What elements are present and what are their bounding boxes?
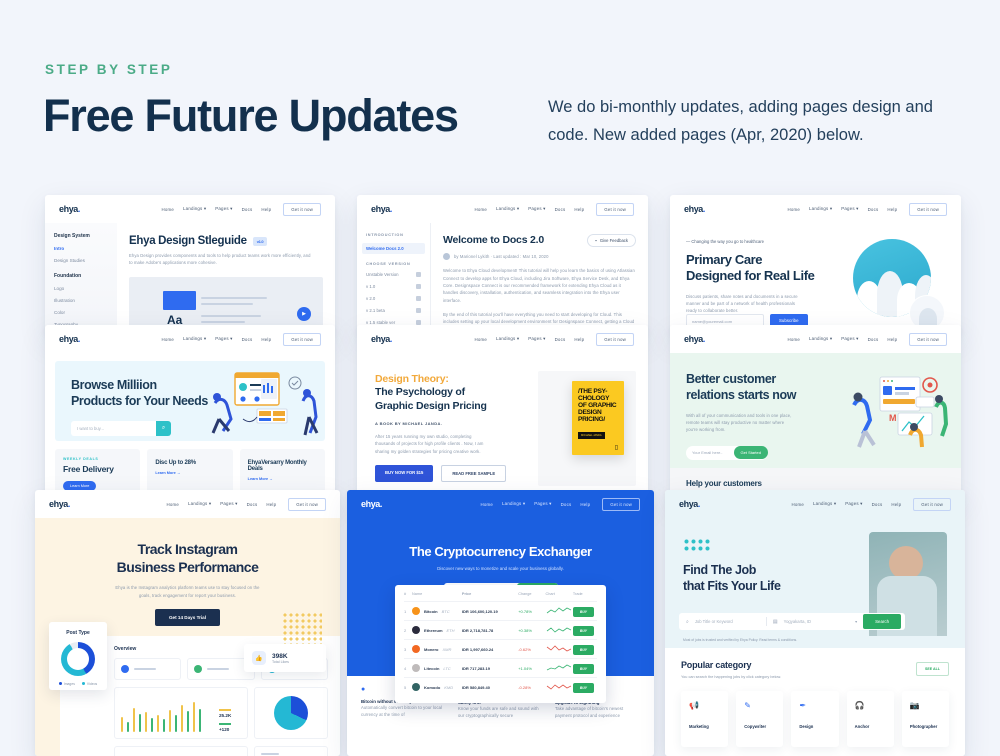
sidebar-item-welcome[interactable]: Welcome Docs 2.0	[362, 243, 425, 254]
site-nav: ehya. Home Landings ▾ Pages ▾ Docs Help …	[45, 325, 335, 353]
book-paragraph: After 15 years running my own studio, co…	[375, 433, 485, 455]
category-card-photographer[interactable]: 📷 Photographer	[902, 691, 949, 747]
styleguide-sidebar: Design System Intro Design Studies Found…	[45, 223, 117, 335]
logo: ehya.	[59, 204, 80, 214]
doc-icon	[416, 284, 421, 289]
nav-links: Home Landings ▾ Pages ▾ Docs Help Get it…	[162, 333, 321, 346]
site-nav: ehya. Home Landings ▾ Pages ▾ Docs Help …	[665, 490, 965, 518]
card-ecommerce[interactable]: ehya. Home Landings ▾ Pages ▾ Docs Help …	[45, 325, 335, 500]
logo: ehya.	[371, 204, 392, 214]
jobs-hero: ehya. Home Landings ▾ Pages ▾ Docs Help …	[665, 490, 965, 728]
nav-item-pages[interactable]: Pages ▾	[528, 206, 545, 212]
nav-item-docs[interactable]: Docs	[247, 502, 258, 507]
row-price: IDR 717,283.19	[462, 666, 518, 671]
logo: ehya.	[684, 204, 705, 214]
likes-value: 398K	[272, 653, 289, 660]
row-name: BitcoinBTC	[412, 607, 462, 615]
color-swatch	[163, 291, 196, 310]
email-field[interactable]: Your Email here..	[692, 450, 723, 455]
play-icon[interactable]: ▶	[297, 307, 311, 321]
version-item[interactable]: Unstable Version	[366, 272, 421, 277]
read-sample-button[interactable]: READ FREE SAMPLE	[441, 465, 506, 482]
logo: ehya.	[59, 334, 80, 344]
row-name: EthereumETH	[412, 626, 462, 634]
nav-item-help[interactable]: Help	[261, 337, 271, 342]
nav-item-docs[interactable]: Docs	[561, 502, 572, 507]
row-price: IDR 106,600,120.19	[462, 609, 518, 614]
doc-icon	[416, 272, 421, 277]
section-title: Popular category	[681, 660, 949, 670]
popular-category-section: Popular category You can search the happ…	[665, 648, 965, 756]
logo: ehya.	[361, 499, 382, 509]
row-price: IDR 580,849.40	[462, 685, 518, 690]
docs-main: Welcome to Docs 2.0 ▪ Give Feedback by M…	[431, 223, 648, 335]
nav-links: Home Landings ▾ Pages ▾ Docs Help Get it…	[792, 498, 951, 511]
avatar	[443, 253, 450, 260]
pie-slice-group	[274, 696, 308, 730]
row-index: 5	[404, 685, 412, 690]
nav-item-landings[interactable]: Landings ▾	[183, 336, 206, 342]
crypto-hero: ehya. Home Landings ▾ Pages ▾ Docs Help …	[347, 490, 654, 728]
row-trade[interactable]: BUY	[573, 685, 597, 690]
version-item[interactable]: v 1.0	[366, 284, 421, 289]
category-card-copywriter[interactable]: ✎ Copywriter	[736, 691, 783, 747]
sidebar-item-intro[interactable]: Intro	[54, 246, 108, 251]
docs-body: INTRODUCTION Welcome Docs 2.0 CHOOSE VER…	[357, 223, 648, 335]
nav-item-pages[interactable]: Pages ▾	[215, 336, 232, 342]
version-label: Unstable Version	[366, 272, 399, 277]
nav-cta-button[interactable]: Get it now	[596, 203, 634, 216]
hero-title: The Cryptocurrency Exchanger	[347, 544, 654, 559]
table-row[interactable]: 4 LitecoinLTC IDR 717,283.19 +1.04% BUY	[404, 658, 597, 677]
row-name: MoneroXMR	[412, 645, 462, 653]
primary-care-hero: — Changing the way you go to healthcare …	[670, 223, 961, 335]
row-change: +1.04%	[518, 666, 545, 671]
location-icon: ▤	[773, 619, 778, 625]
row-name: KomodoKMD	[412, 683, 462, 691]
stat-card	[114, 658, 181, 680]
policy-note: Most of jobs is trusted and verified by …	[683, 638, 797, 642]
nav-links: Home Landings ▾ Pages ▾ Docs Help Get it…	[788, 333, 947, 346]
see-all-button[interactable]: SEE ALL	[916, 662, 949, 676]
nav-item-help[interactable]: Help	[887, 337, 897, 342]
version-item[interactable]: v 2.0	[366, 296, 421, 301]
row-trade[interactable]: BUY	[573, 628, 597, 633]
doc-icon	[416, 296, 421, 301]
category-label: Marketing	[689, 724, 720, 729]
row-sparkline	[546, 625, 573, 635]
camera-icon: 📷	[910, 701, 941, 710]
nav-item-pages[interactable]: Pages ▾	[845, 501, 862, 507]
site-nav: ehya. Home Landings ▾ Pages ▾ Docs Help …	[357, 325, 648, 353]
row-change: +0.78%	[518, 609, 545, 614]
row-change: +0.38%	[518, 628, 545, 633]
card-docs[interactable]: ehya. Home Landings ▾ Pages ▾ Docs Help …	[357, 195, 648, 335]
nav-item-docs[interactable]: Docs	[555, 207, 566, 212]
page-subcopy: We do bi-monthly updates, adding pages d…	[548, 94, 948, 149]
site-nav: ehya. Home Landings ▾ Pages ▾ Docs Help …	[357, 195, 648, 223]
doctors-illustration	[849, 237, 949, 333]
job-search-bar[interactable]: ⌕ Job Title or Keyword ▤ Yogyakarta, ID …	[679, 613, 905, 630]
nav-item-landings[interactable]: Landings ▾	[496, 336, 519, 342]
legend-videos: Videos	[82, 682, 97, 686]
nav-item-landings[interactable]: Landings ▾	[183, 206, 206, 212]
hero-title: Track Instagram Business Performance	[35, 540, 340, 576]
card-crm[interactable]: ehya. Home Landings ▾ Pages ▾ Docs Help …	[670, 325, 961, 500]
megaphone-icon: 📢	[689, 701, 720, 710]
nav-item-docs[interactable]: Docs	[242, 337, 253, 342]
post-type-title: Post Type	[49, 630, 107, 636]
nav-links: Home Landings ▾ Pages ▾ Docs Help Get it…	[481, 498, 640, 511]
nav-item-pages[interactable]: Pages ▾	[841, 206, 858, 212]
feature-text: Automatically convert bitcoin to your lo…	[361, 704, 446, 719]
hero-copy: Track Instagram Business Performance Ehy…	[35, 518, 340, 626]
version-badge: v1.0	[253, 237, 268, 246]
version-label: v 2.0	[366, 296, 375, 301]
byline-text: by Marionel Lykith · Last updated : Mar …	[454, 253, 549, 260]
nav-item-pages[interactable]: Pages ▾	[220, 501, 237, 507]
trial-button[interactable]: Get 14 Days Trial	[155, 609, 220, 626]
site-nav: ehya. Home Landings ▾ Pages ▾ Docs Help …	[45, 195, 335, 223]
dot-pattern	[282, 612, 322, 646]
row-sparkline	[546, 606, 573, 616]
nav-item-landings[interactable]: Landings ▾	[188, 501, 211, 507]
row-sparkline	[546, 644, 573, 654]
chat-icon: ▪	[595, 238, 597, 243]
logo: ehya.	[49, 499, 70, 509]
sidebar-item-color[interactable]: Color	[54, 310, 108, 315]
site-nav: ehya. Home Landings ▾ Pages ▾ Docs Help …	[670, 195, 961, 223]
deal-title: Disc Up to 28%	[155, 460, 224, 466]
row-name: LitecoinLTC	[412, 664, 462, 672]
nav-cta-button[interactable]: Get it now	[283, 203, 321, 216]
shopping-illustration	[199, 367, 319, 441]
headphones-icon: 🎧	[855, 701, 886, 710]
nav-cta-button[interactable]: Get it now	[596, 333, 634, 346]
col-change: Change	[518, 592, 545, 596]
card-styleguide[interactable]: ehya. Home Landings ▾ Pages ▾ Docs Help …	[45, 195, 335, 335]
get-started-button[interactable]: Get Started	[734, 446, 768, 459]
eyebrow-label: STEP BY STEP	[45, 62, 173, 77]
search-input[interactable]: I want to buy...	[77, 426, 104, 431]
nav-cta-button[interactable]: Get it now	[283, 333, 321, 346]
feature-text: Know your funds are safe and sound with …	[458, 705, 543, 720]
hero-subtitle: Discover new ways to monetize and scale …	[347, 566, 654, 571]
nav-item-help[interactable]: Help	[580, 502, 590, 507]
book-cover-text: /THE PSY-CHOLOGY OF GRAPHIC DESIGN PRICI…	[578, 388, 618, 423]
page-title: Free Future Updates	[43, 90, 458, 142]
pen-tool-icon: ✒	[799, 701, 830, 710]
search-input[interactable]: Job Title or Keyword	[695, 619, 760, 624]
version-label: v 1.0	[366, 284, 375, 289]
nav-links: Home Landings ▾ Pages ▾ Docs Help Get it…	[475, 333, 634, 346]
nav-cta-button[interactable]: Get it now	[602, 498, 640, 511]
card-instagram-analytics[interactable]: ehya. Home Landings ▾ Pages ▾ Docs Help …	[35, 490, 340, 756]
buy-now-button[interactable]: BUY NOW FOR $15	[375, 465, 433, 482]
line-chart	[114, 746, 248, 756]
ecommerce-hero: Browse Milliion Products for Your Needs …	[55, 361, 325, 441]
col-name: Name	[412, 592, 462, 596]
table-row[interactable]: 3 MoneroXMR IDR 1,997,660.24 -0.62% BUY	[404, 639, 597, 658]
pie-chart	[254, 687, 328, 739]
deal-link[interactable]: Learn More →	[248, 477, 317, 481]
hero-paragraph: Ehya is the Instagram analytics platform…	[113, 584, 263, 599]
chevron-down-icon[interactable]: ▾	[855, 619, 857, 624]
row-index: 1	[404, 609, 412, 614]
doc-icon	[416, 308, 421, 313]
table-header: # Name Price Change Chart Trade	[404, 592, 597, 601]
category-label: Design	[799, 724, 830, 729]
crypto-table: # Name Price Change Chart Trade 1 Bitcoi…	[395, 585, 606, 703]
docs-header-row: Welcome to Docs 2.0 ▪ Give Feedback	[443, 234, 636, 247]
styleguide-title-text: Ehya Design Stleguide	[129, 235, 247, 247]
table-row[interactable]: 1 BitcoinBTC IDR 106,600,120.19 +0.78% B…	[404, 601, 597, 620]
styleguide-title: Ehya Design Stleguide v1.0	[129, 235, 323, 247]
list-widget	[254, 746, 328, 756]
category-card-anchor[interactable]: 🎧 Anchor	[847, 691, 894, 747]
nav-links: Home Landings ▾ Pages ▾ Docs Help Get it…	[167, 498, 326, 511]
nav-item-pages[interactable]: Pages ▾	[528, 336, 545, 342]
nav-links: Home Landings ▾ Pages ▾ Docs Help Get it…	[788, 203, 947, 216]
logo: ehya.	[684, 334, 705, 344]
card-jobs[interactable]: ehya. Home Landings ▾ Pages ▾ Docs Help …	[665, 490, 965, 756]
hero-copy: Find The Job that Fits Your Life ⌕ Job T…	[665, 518, 965, 648]
sidebar-heading-foundation: Foundation	[54, 273, 108, 279]
row-trade[interactable]: BUY	[573, 647, 597, 652]
nav-item-home[interactable]: Home	[788, 207, 801, 212]
row-trade[interactable]: BUY	[573, 609, 597, 614]
row-trade[interactable]: BUY	[573, 666, 597, 671]
category-card-marketing[interactable]: 📢 Marketing	[681, 691, 728, 747]
chart-value-2: +120	[219, 727, 241, 732]
likes-label: Total Likes	[272, 660, 289, 664]
styleguide-paragraph: Ehya Design provides components and tool…	[129, 252, 314, 267]
col-index: #	[404, 592, 412, 596]
col-trade: Trade	[573, 592, 597, 596]
template-grid: ehya. Home Landings ▾ Pages ▾ Docs Help …	[0, 195, 1000, 756]
category-card-design[interactable]: ✒ Design	[791, 691, 838, 747]
category-label: Anchor	[855, 724, 886, 729]
deal-caption: WEEKLY DEALS	[63, 457, 132, 461]
nav-item-landings[interactable]: Landings ▾	[502, 501, 525, 507]
search-icon: ⌕	[686, 619, 689, 625]
feature-text: Take advantage of bitcoin's newest payme…	[555, 705, 640, 720]
card-primary-care[interactable]: ehya. Home Landings ▾ Pages ▾ Docs Help …	[670, 195, 961, 335]
donut-chart	[61, 642, 95, 676]
book-hero: Design Theory: The Psychology of Graphic…	[357, 353, 648, 500]
hero-paragraph: Discuss patients, share notes and docume…	[686, 293, 806, 315]
sidebar-caption-version: CHOOSE VERSION	[366, 262, 421, 266]
nav-item-home[interactable]: Home	[788, 337, 801, 342]
nav-cta-button[interactable]: Get it now	[288, 498, 326, 511]
dot-pattern	[683, 538, 711, 552]
sidebar-item-design-studies[interactable]: Design Studies	[54, 258, 108, 263]
thumbs-up-icon: 👍	[252, 651, 266, 665]
sidebar-caption-introduction: INTRODUCTION	[366, 233, 421, 237]
site-nav: ehya. Home Landings ▾ Pages ▾ Docs Help …	[670, 325, 961, 353]
bar-chart: 25.2K +120	[114, 687, 248, 739]
docs-paragraph: Welcome to Ehya Cloud development! This …	[443, 267, 636, 304]
nav-item-home[interactable]: Home	[162, 337, 175, 342]
nav-item-docs[interactable]: Docs	[555, 337, 566, 342]
nav-item-home[interactable]: Home	[475, 207, 488, 212]
category-label: Copywriter	[744, 724, 775, 729]
nav-links: Home Landings ▾ Pages ▾ Docs Help Get it…	[162, 203, 321, 216]
nav-item-landings[interactable]: Landings ▾	[809, 206, 832, 212]
nav-item-home[interactable]: Home	[162, 207, 175, 212]
row-sparkline	[546, 663, 573, 673]
book-cover: /THE PSY-CHOLOGY OF GRAPHIC DESIGN PRICI…	[572, 381, 624, 455]
hero-title-line1: Track Instagram	[35, 540, 340, 558]
footer-title: Help your customers	[686, 479, 961, 488]
nav-cta-button[interactable]: Get it now	[909, 333, 947, 346]
book-actions: BUY NOW FOR $15 READ FREE SAMPLE	[375, 465, 506, 482]
signup-form: Your Email here.. Get Started	[686, 446, 768, 460]
nav-item-docs[interactable]: Docs	[872, 502, 883, 507]
svg-text:M: M	[889, 413, 897, 423]
row-price: IDR 1,997,660.24	[462, 647, 518, 652]
nav-links: Home Landings ▾ Pages ▾ Docs Help Get it…	[475, 203, 634, 216]
styleguide-main: Ehya Design Stleguide v1.0 Ehya Design p…	[117, 223, 335, 335]
nav-item-landings[interactable]: Landings ▾	[809, 336, 832, 342]
give-feedback-button[interactable]: ▪ Give Feedback	[587, 234, 636, 247]
version-label: v 2.1 beta	[366, 308, 385, 313]
row-change: -0.28%	[518, 685, 545, 690]
styleguide-body: Design System Intro Design Studies Found…	[45, 223, 335, 335]
nav-item-landings[interactable]: Landings ▾	[813, 501, 836, 507]
publisher-mark-icon: ▯	[615, 444, 618, 451]
nav-cta-button[interactable]: Get it now	[909, 203, 947, 216]
table-row[interactable]: 5 KomodoKMD IDR 580,849.40 -0.28% BUY	[404, 677, 597, 696]
logo: ehya.	[679, 499, 700, 509]
version-item[interactable]: v 2.1 beta	[366, 308, 421, 313]
location-select[interactable]: Yogyakarta, ID	[784, 619, 849, 624]
docs-title: Welcome to Docs 2.0	[443, 234, 544, 246]
nav-item-help[interactable]: Help	[266, 502, 276, 507]
logo: ehya.	[371, 334, 392, 344]
sidebar-item-illustration[interactable]: Illustration	[54, 298, 108, 303]
nav-item-pages[interactable]: Pages ▾	[841, 336, 858, 342]
deal-title: EhyaVersarry Monthly Deals	[248, 460, 317, 472]
docs-byline: by Marionel Lykith · Last updated : Mar …	[443, 253, 636, 260]
row-change: -0.62%	[518, 647, 545, 652]
nav-item-docs[interactable]: Docs	[868, 207, 879, 212]
nav-item-help[interactable]: Help	[261, 207, 271, 212]
hero-title-line2: Business Performance	[35, 558, 340, 576]
card-crypto[interactable]: ehya. Home Landings ▾ Pages ▾ Docs Help …	[347, 490, 654, 756]
nav-item-home[interactable]: Home	[792, 502, 805, 507]
pencil-icon: ✎	[744, 701, 775, 710]
nav-item-home[interactable]: Home	[167, 502, 180, 507]
row-index: 3	[404, 647, 412, 652]
row-index: 2	[404, 628, 412, 633]
post-type-legend: Images Videos	[49, 682, 107, 686]
legend-images: Images	[59, 682, 75, 686]
nav-item-docs[interactable]: Docs	[868, 337, 879, 342]
site-nav: ehya. Home Landings ▾ Pages ▾ Docs Help …	[35, 490, 340, 518]
table-row[interactable]: 2 EthereumETH IDR 2,718,781.78 +0.38% BU…	[404, 620, 597, 639]
book-cover-tag: MICHAEL JANDA	[578, 432, 605, 439]
row-index: 4	[404, 666, 412, 671]
nav-item-help[interactable]: Help	[574, 207, 584, 212]
search-icon[interactable]: ⌕	[156, 421, 171, 436]
nav-cta-button[interactable]: Get it now	[913, 498, 951, 511]
crm-illustration: M	[846, 373, 951, 457]
sidebar-item-logo[interactable]: Logo	[54, 286, 108, 291]
category-label: Photographer	[910, 724, 941, 729]
nav-item-help[interactable]: Help	[891, 502, 901, 507]
category-list: 📢 Marketing ✎ Copywriter ✒ Design 🎧	[681, 691, 949, 747]
nav-item-docs[interactable]: Docs	[242, 207, 253, 212]
page-root: STEP BY STEP Free Future Updates We do b…	[0, 0, 1000, 756]
post-type-card: Post Type Images Videos	[49, 622, 107, 690]
nav-item-pages[interactable]: Pages ▾	[215, 206, 232, 212]
total-likes-card: 👍 398K Total Likes	[244, 644, 326, 672]
product-search[interactable]: I want to buy... ⌕	[71, 421, 171, 436]
deal-title: Free Delivery	[63, 464, 132, 474]
col-chart: Chart	[546, 592, 573, 596]
nav-item-help[interactable]: Help	[887, 207, 897, 212]
give-feedback-label: Give Feedback	[600, 238, 628, 243]
site-nav: ehya. Home Landings ▾ Pages ▾ Docs Help …	[347, 490, 654, 518]
docs-sidebar: INTRODUCTION Welcome Docs 2.0 CHOOSE VER…	[357, 223, 431, 335]
nav-item-help[interactable]: Help	[574, 337, 584, 342]
nav-item-pages[interactable]: Pages ▾	[534, 501, 551, 507]
sidebar-heading-design-system: Design System	[54, 233, 108, 239]
nav-item-landings[interactable]: Landings ▾	[496, 206, 519, 212]
row-sparkline	[546, 682, 573, 692]
search-button[interactable]: Search	[863, 614, 901, 629]
hero-paragraph: With all of your communication and tools…	[686, 412, 796, 434]
nav-item-home[interactable]: Home	[481, 502, 494, 507]
chart-value-1: 25.2K	[219, 713, 241, 718]
card-book[interactable]: ehya. Home Landings ▾ Pages ▾ Docs Help …	[357, 325, 648, 500]
section-subtitle: You can search the happening jobs by cli…	[681, 675, 949, 679]
nav-item-home[interactable]: Home	[475, 337, 488, 342]
deal-link[interactable]: Learn More →	[155, 471, 224, 475]
col-price: Price	[462, 592, 518, 596]
instagram-hero: Track Instagram Business Performance Ehy…	[35, 518, 340, 756]
row-price: IDR 2,718,781.78	[462, 628, 518, 633]
